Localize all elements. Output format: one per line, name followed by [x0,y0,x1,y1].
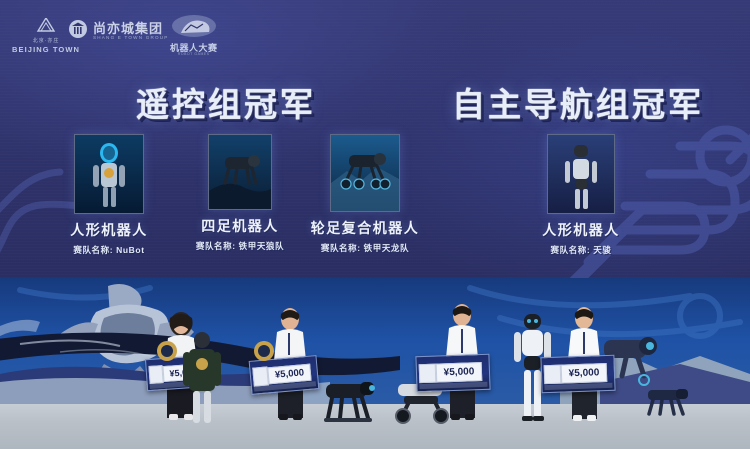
winner-1-team-name: 赛队名称: NuBot [44,244,174,256]
stage-humanoid-robot-1 [180,330,224,426]
logo-robot-games: 机器人大赛 ROBOT GAMES [170,15,218,57]
winner-card-4: 人形机器人 赛队名称: 天骏 [517,134,645,256]
winner-2-medal [253,340,275,367]
headline-autonomous-navigation-champion: 自主导航组冠军 [452,78,704,126]
winner-1-robot-type: 人形机器人 [44,220,174,240]
logo-beijing-town-cn: 北京·亦庄 [33,39,60,44]
winner-3-robot-thumbnail [330,134,400,212]
winner-1-medal [156,340,178,367]
prize-check-4: ¥5,000 [540,355,615,394]
prize-check-3: ¥5,000 [415,354,490,393]
winner-card-1: 人形机器人 赛队名称: NuBot [44,134,174,256]
screenshot-root: 北京·亦庄 BEIJING TOWN 尚亦城集团 SHANG E TOWN GR… [0,0,750,449]
headline-remote-control-champion: 遥控组冠军 [136,78,316,126]
prize-check-3-footer [420,382,488,390]
prize-check-3-sidelabel [419,363,436,383]
logo-shang-e-town-group-cn: 尚亦城集团 [93,22,169,36]
winner-2-team-name: 赛队名称: 铁甲天狼队 [181,240,299,252]
winner-2-robot-thumbnail [208,134,272,210]
winner-2-robot-type: 四足机器人 [181,216,299,236]
pillar-circle-icon [68,19,88,44]
winner-4-robot-type: 人形机器人 [517,220,645,240]
mountain-peak-icon [35,18,57,37]
stage-quadruped-robot [316,378,382,424]
winner-4-team-name: 赛队名称: 天骏 [517,244,645,256]
stage-quadruped-robot-right [640,386,696,420]
sponsor-logo-bar: 北京·亦庄 BEIJING TOWN 尚亦城集团 SHANG E TOWN GR… [0,10,750,54]
winner-3-team-name: 赛队名称: 铁甲天龙队 [297,242,433,254]
logo-beijing-town-en: BEIJING TOWN [12,46,80,54]
winner-1-robot-thumbnail [74,134,144,214]
winner-card-2: 四足机器人 赛队名称: 铁甲天狼队 [181,134,299,252]
prize-check-1-sidelabel [148,365,164,384]
winner-4-robot-thumbnail [547,134,615,214]
logo-robot-games-sub: ROBOT GAMES [178,53,210,57]
robot-emblem-icon [171,15,217,44]
winner-3-robot-type: 轮足复合机器人 [297,218,433,238]
prize-check-4-sidelabel [544,364,561,384]
prize-check-4-amount: ¥5,000 [560,363,607,383]
winner-card-3: 轮足复合机器人 赛队名称: 铁甲天龙队 [297,134,433,254]
logo-shang-e-town-group: 尚亦城集团 SHANG E TOWN GROUP [68,19,169,44]
prize-check-4-footer [545,383,613,391]
prize-check-3-amount: ¥5,000 [435,362,482,382]
logo-shang-e-town-group-en: SHANG E TOWN GROUP [93,36,169,41]
prize-check-2-sidelabel [252,367,269,387]
